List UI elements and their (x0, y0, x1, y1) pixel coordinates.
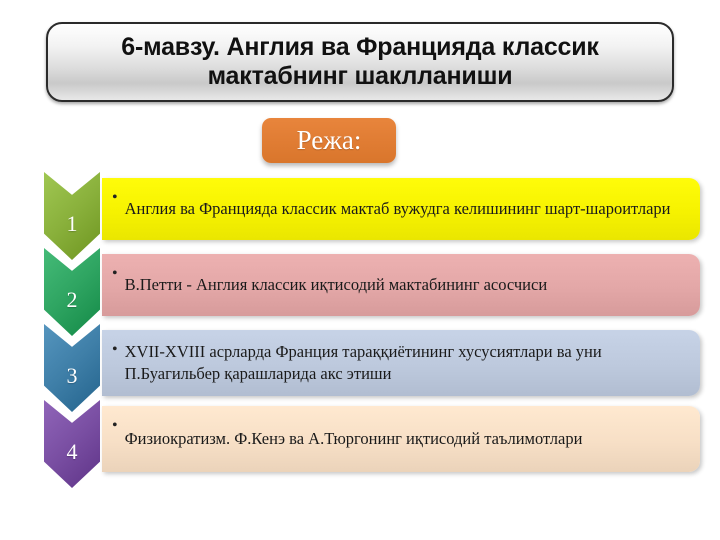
plan-item-bar-2[interactable]: • В.Петти - Англия классик иқтисодий мак… (102, 254, 700, 316)
chevron-marker-1: 1 (44, 172, 100, 260)
plan-item-text-3: XVII-XVIII асрларда Франция тараққиётини… (125, 341, 688, 385)
plan-item-text-2: В.Петти - Англия классик иқтисодий макта… (125, 274, 688, 296)
plan-item-3[interactable]: 3 • XVII-XVIII асрларда Франция тараққиё… (44, 324, 700, 398)
bullet-icon: • (112, 190, 118, 206)
chevron-marker-4: 4 (44, 400, 100, 488)
plan-badge: Режа: (262, 118, 396, 163)
chevron-marker-2: 2 (44, 248, 100, 336)
plan-item-text-1: Англия ва Францияда классик мактаб вужуд… (125, 198, 688, 220)
plan-item-bar-1[interactable]: • Англия ва Францияда классик мактаб вуж… (102, 178, 700, 240)
chevron-number-3: 3 (67, 363, 78, 389)
slide-title-banner: 6-мавзу. Англия ва Францияда классик мак… (46, 22, 674, 102)
plan-item-1[interactable]: 1 • Англия ва Францияда классик мактаб в… (44, 172, 700, 246)
plan-item-4[interactable]: 4 • Физиократизм. Ф.Кенэ ва А.Тюргонинг … (44, 400, 700, 474)
chevron-number-1: 1 (67, 211, 78, 237)
plan-item-bar-4[interactable]: • Физиократизм. Ф.Кенэ ва А.Тюргонинг иқ… (102, 406, 700, 472)
plan-item-bar-3[interactable]: • XVII-XVIII асрларда Франция тараққиёти… (102, 330, 700, 396)
plan-badge-label: Режа: (297, 125, 362, 156)
plan-item-text-4: Физиократизм. Ф.Кенэ ва А.Тюргонинг иқти… (125, 428, 688, 450)
plan-item-2[interactable]: 2 • В.Петти - Англия классик иқтисодий м… (44, 248, 700, 322)
page-title: 6-мавзу. Англия ва Францияда классик мак… (62, 33, 658, 92)
bullet-icon: • (112, 418, 118, 434)
chevron-number-4: 4 (67, 439, 78, 465)
chevron-number-2: 2 (67, 287, 78, 313)
bullet-icon: • (112, 266, 118, 282)
bullet-icon: • (112, 342, 118, 358)
chevron-marker-3: 3 (44, 324, 100, 412)
